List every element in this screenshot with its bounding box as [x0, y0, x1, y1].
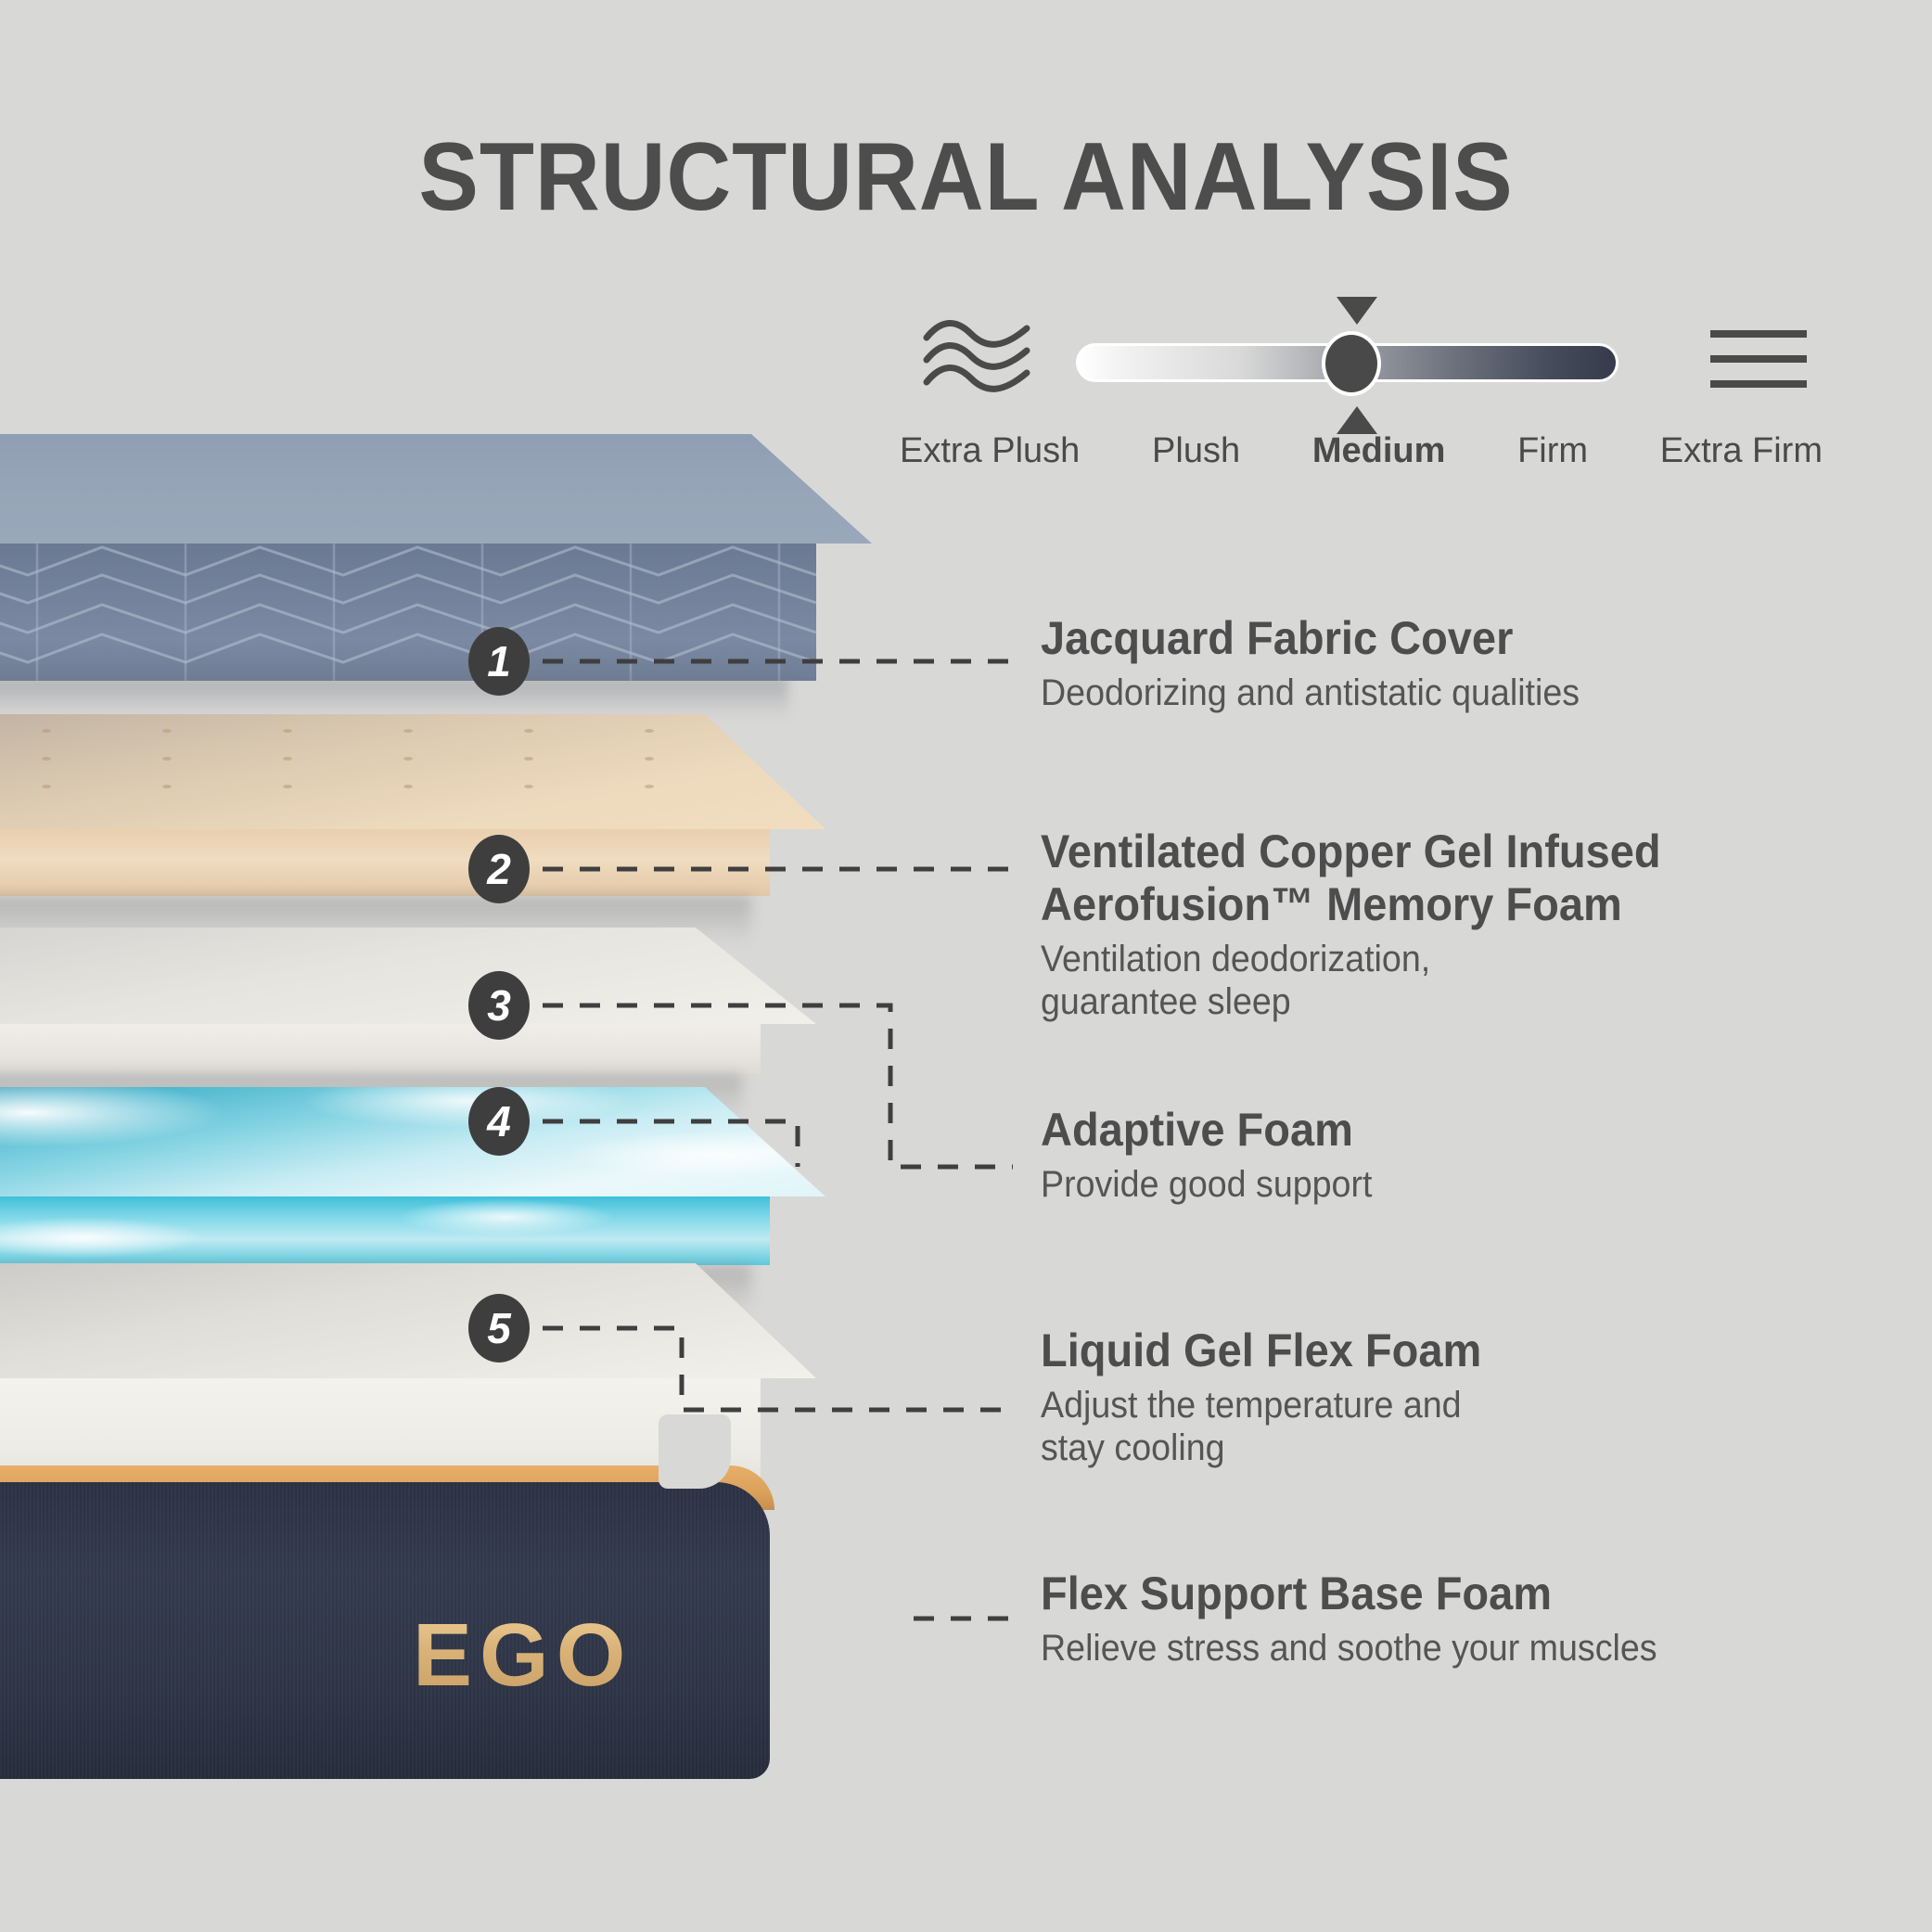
slider-marker-top-icon	[1337, 297, 1377, 325]
callout-liquid-gel-flex-foam: Liquid Gel Flex Foam Adjust the temperat…	[1041, 1324, 1875, 1469]
callout-title: Adaptive Foam	[1041, 1104, 1825, 1157]
callout-title: Jacquard Fabric Cover	[1041, 612, 1825, 665]
mattress-layer-stack: EGO	[0, 0, 928, 1932]
callout-description: Provide good support	[1041, 1164, 1825, 1207]
layer-top-surface	[0, 714, 825, 835]
callout-jacquard-fabric-cover: Jacquard Fabric Cover Deodorizing and an…	[1041, 612, 1875, 715]
layer-side-surface	[0, 1196, 770, 1265]
callout-description: Adjust the temperature and stay cooling	[1041, 1385, 1825, 1469]
callout-description: Deodorizing and antistatic qualities	[1041, 672, 1825, 715]
callout-adaptive-foam: Adaptive Foam Provide good support	[1041, 1104, 1875, 1207]
callout-title: Flex Support Base Foam	[1041, 1567, 1825, 1620]
layer-badge-4[interactable]: 4	[468, 1087, 530, 1156]
waves-icon	[923, 319, 1034, 397]
mattress-layer-adaptive-gel-foam	[0, 1087, 825, 1291]
firmness-label-extra-firm[interactable]: Extra Firm	[1660, 431, 1823, 471]
callout-title: Liquid Gel Flex Foam	[1041, 1324, 1825, 1377]
firmness-label-medium[interactable]: Medium	[1312, 431, 1446, 471]
callout-description: Relieve stress and soothe your muscles	[1041, 1628, 1825, 1670]
layer-badge-2[interactable]: 2	[468, 835, 530, 903]
layer-badge-1[interactable]: 1	[468, 627, 530, 696]
ego-brand-logo: EGO	[413, 1605, 633, 1707]
layer-badge-5[interactable]: 5	[468, 1294, 530, 1363]
layer-drop-shadow	[0, 677, 788, 718]
layer-badge-3[interactable]: 3	[468, 971, 530, 1040]
base-fabric-body	[0, 1482, 770, 1779]
firm-lines-icon	[1708, 326, 1810, 391]
layer-side-surface	[0, 829, 770, 896]
layer-top-surface	[0, 1263, 816, 1384]
callout-description: Ventilation deodorization, guarantee sle…	[1041, 939, 1825, 1023]
mattress-layer-support-base-foam: EGO	[0, 1465, 825, 1785]
layer-side-surface	[0, 544, 816, 681]
layer-top-surface	[0, 1087, 825, 1203]
firmness-label-plush[interactable]: Plush	[1152, 431, 1240, 471]
firmness-label-firm[interactable]: Firm	[1517, 431, 1588, 471]
callout-flex-support-base-foam: Flex Support Base Foam Relieve stress an…	[1041, 1567, 1875, 1670]
mattress-layer-copper-gel-memory-foam	[0, 714, 825, 946]
layer-side-surface	[0, 1024, 761, 1074]
callout-title: Ventilated Copper Gel Infused Aerofusion…	[1041, 825, 1825, 931]
firmness-labels: Extra Plush Plush Medium Firm Extra Firm	[900, 431, 1823, 471]
base-corner-cutout	[659, 1414, 731, 1489]
callout-copper-gel-memory-foam: Ventilated Copper Gel Infused Aerofusion…	[1041, 825, 1875, 1023]
firmness-scale: Extra Plush Plush Medium Firm Extra Firm	[914, 306, 1804, 492]
jacquard-quilt-pattern	[0, 544, 816, 681]
slider-marker-bottom-icon	[1337, 406, 1377, 434]
mattress-layer-white-foam	[0, 928, 816, 1113]
mattress-layer-jacquard-cover	[0, 434, 872, 712]
firmness-slider-thumb[interactable]	[1322, 331, 1381, 396]
ventilation-holes-pattern	[0, 714, 825, 835]
layer-top-surface	[0, 434, 872, 550]
layer-top-surface	[0, 928, 816, 1030]
